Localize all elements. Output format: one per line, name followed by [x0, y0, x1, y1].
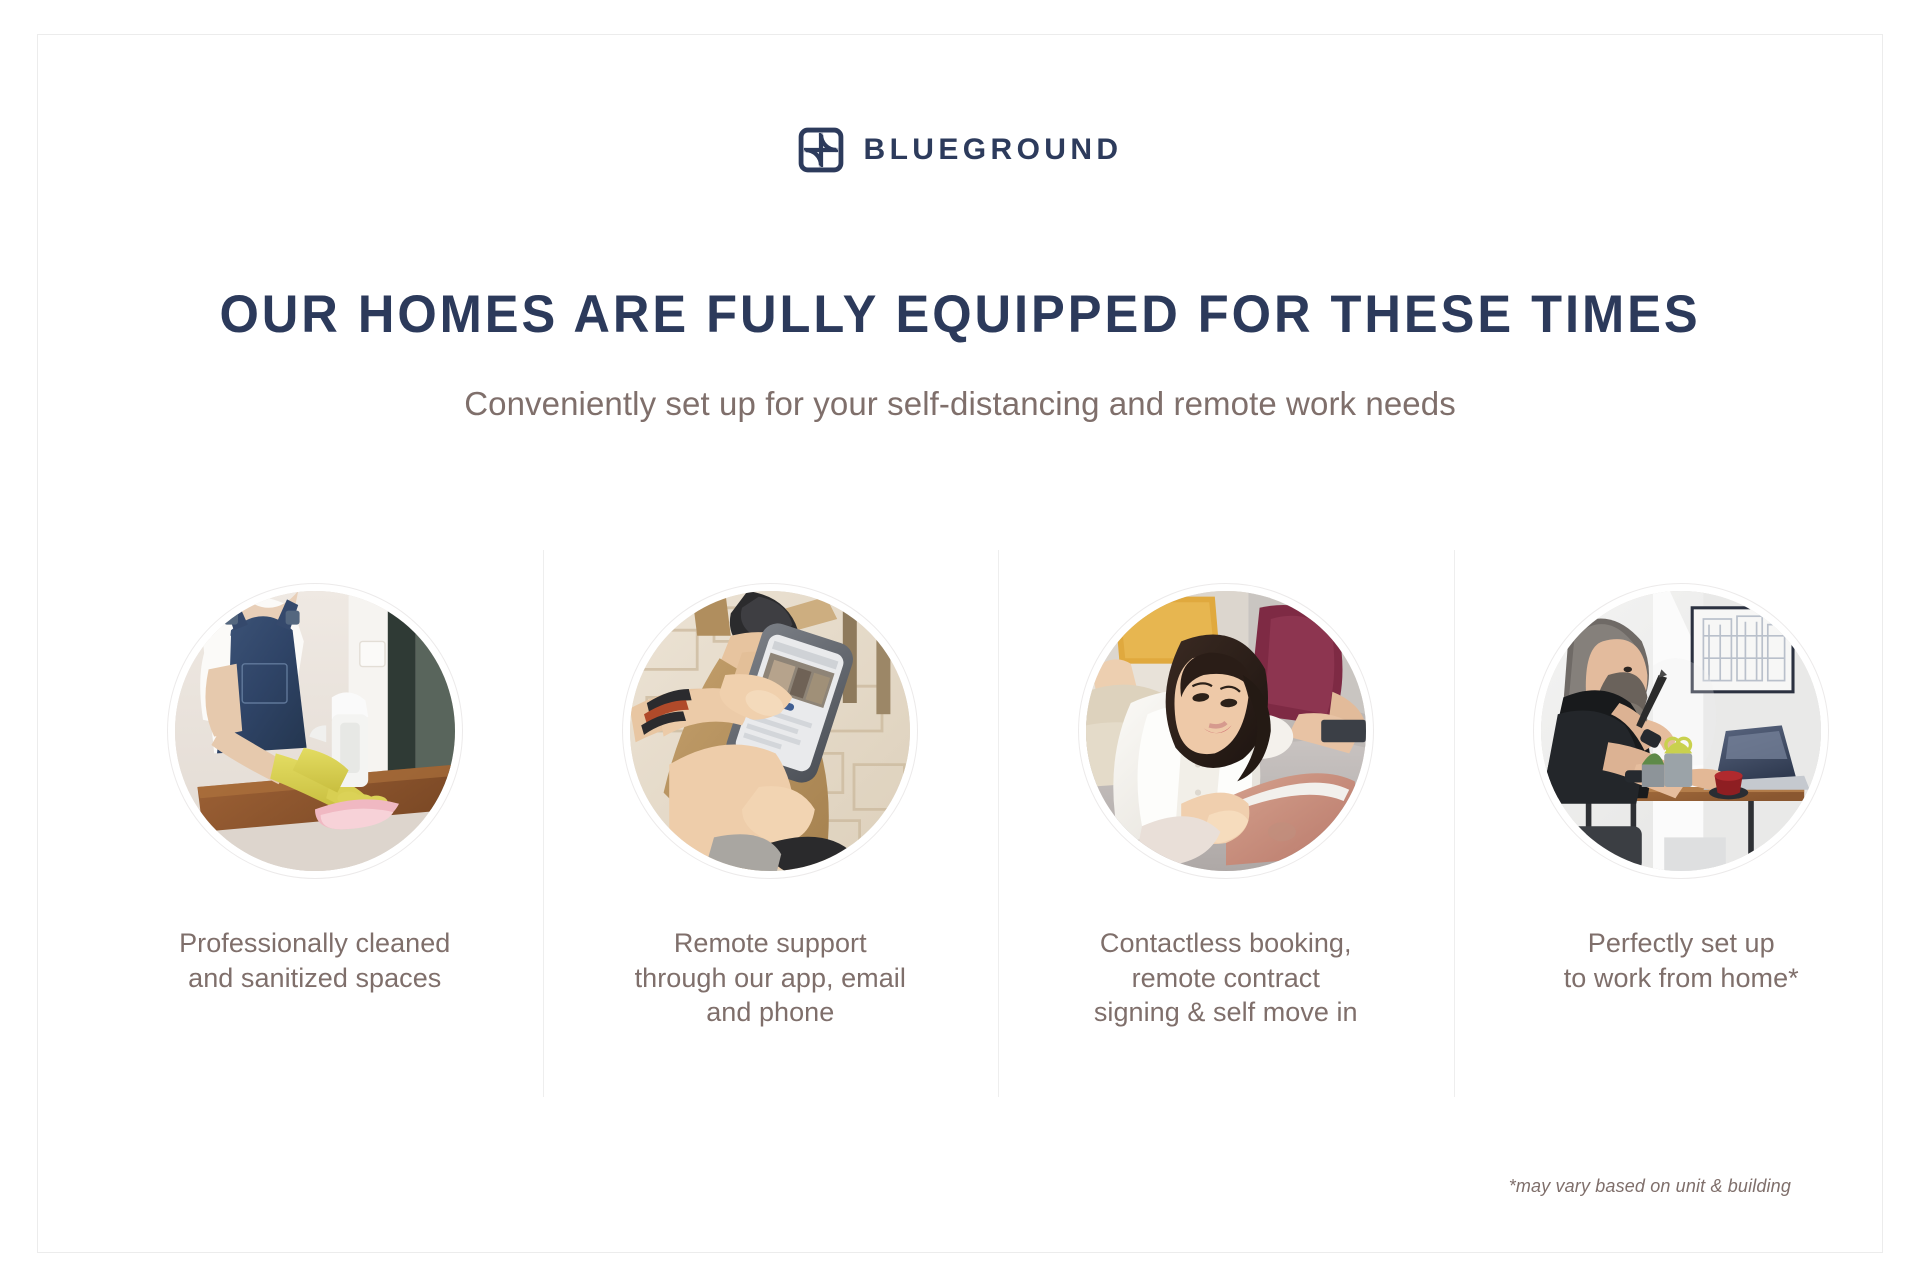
- caption-line: Professionally cleaned: [179, 926, 450, 961]
- caption-line: and sanitized spaces: [179, 961, 450, 996]
- caption-line: Contactless booking,: [1094, 926, 1358, 961]
- page-title: OUR HOMES ARE FULLY EQUIPPED FOR THESE T…: [79, 287, 1840, 343]
- photo-ring: [1533, 583, 1829, 879]
- feature-columns: Professionally cleaned and sanitized spa…: [87, 550, 1909, 1097]
- caption-line: through our app, email: [635, 961, 906, 996]
- content-card: BLUEGROUND OUR HOMES ARE FULLY EQUIPPED …: [37, 34, 1883, 1253]
- caption-line: and phone: [635, 995, 906, 1030]
- photo-ring: [622, 583, 918, 879]
- footnote-disclaimer: *may vary based on unit & building: [1509, 1176, 1791, 1197]
- caption-line: remote contract: [1094, 961, 1358, 996]
- caption-line: to work from home*: [1564, 961, 1799, 996]
- photo-ring: [167, 583, 463, 879]
- feature-column-remote-support: Remote support through our app, email an…: [543, 550, 999, 1097]
- feature-caption: Perfectly set up to work from home*: [1564, 926, 1799, 995]
- brand-name: BLUEGROUND: [864, 135, 1123, 165]
- cleaning-person-photo: [175, 591, 455, 871]
- feature-caption: Contactless booking, remote contract sig…: [1094, 926, 1358, 1030]
- woman-with-tablet-photo: [1086, 591, 1366, 871]
- smartphone-in-hands-photo: [630, 591, 910, 871]
- feature-column-contactless-booking: Contactless booking, remote contract sig…: [998, 550, 1454, 1097]
- feature-caption: Remote support through our app, email an…: [635, 926, 906, 1030]
- blueground-square-mark-icon: [798, 127, 844, 173]
- brand-lockup: BLUEGROUND: [38, 127, 1882, 173]
- caption-line: Remote support: [635, 926, 906, 961]
- feature-column-cleaning: Professionally cleaned and sanitized spa…: [87, 550, 543, 1097]
- feature-caption: Professionally cleaned and sanitized spa…: [179, 926, 450, 995]
- caption-line: Perfectly set up: [1564, 926, 1799, 961]
- page-subtitle: Conveniently set up for your self-distan…: [38, 384, 1882, 424]
- caption-line: signing & self move in: [1094, 995, 1358, 1030]
- photo-ring: [1078, 583, 1374, 879]
- man-working-at-desk-photo: [1541, 591, 1821, 871]
- infographic-page: BLUEGROUND OUR HOMES ARE FULLY EQUIPPED …: [0, 0, 1920, 1280]
- feature-column-work-from-home: Perfectly set up to work from home*: [1454, 550, 1910, 1097]
